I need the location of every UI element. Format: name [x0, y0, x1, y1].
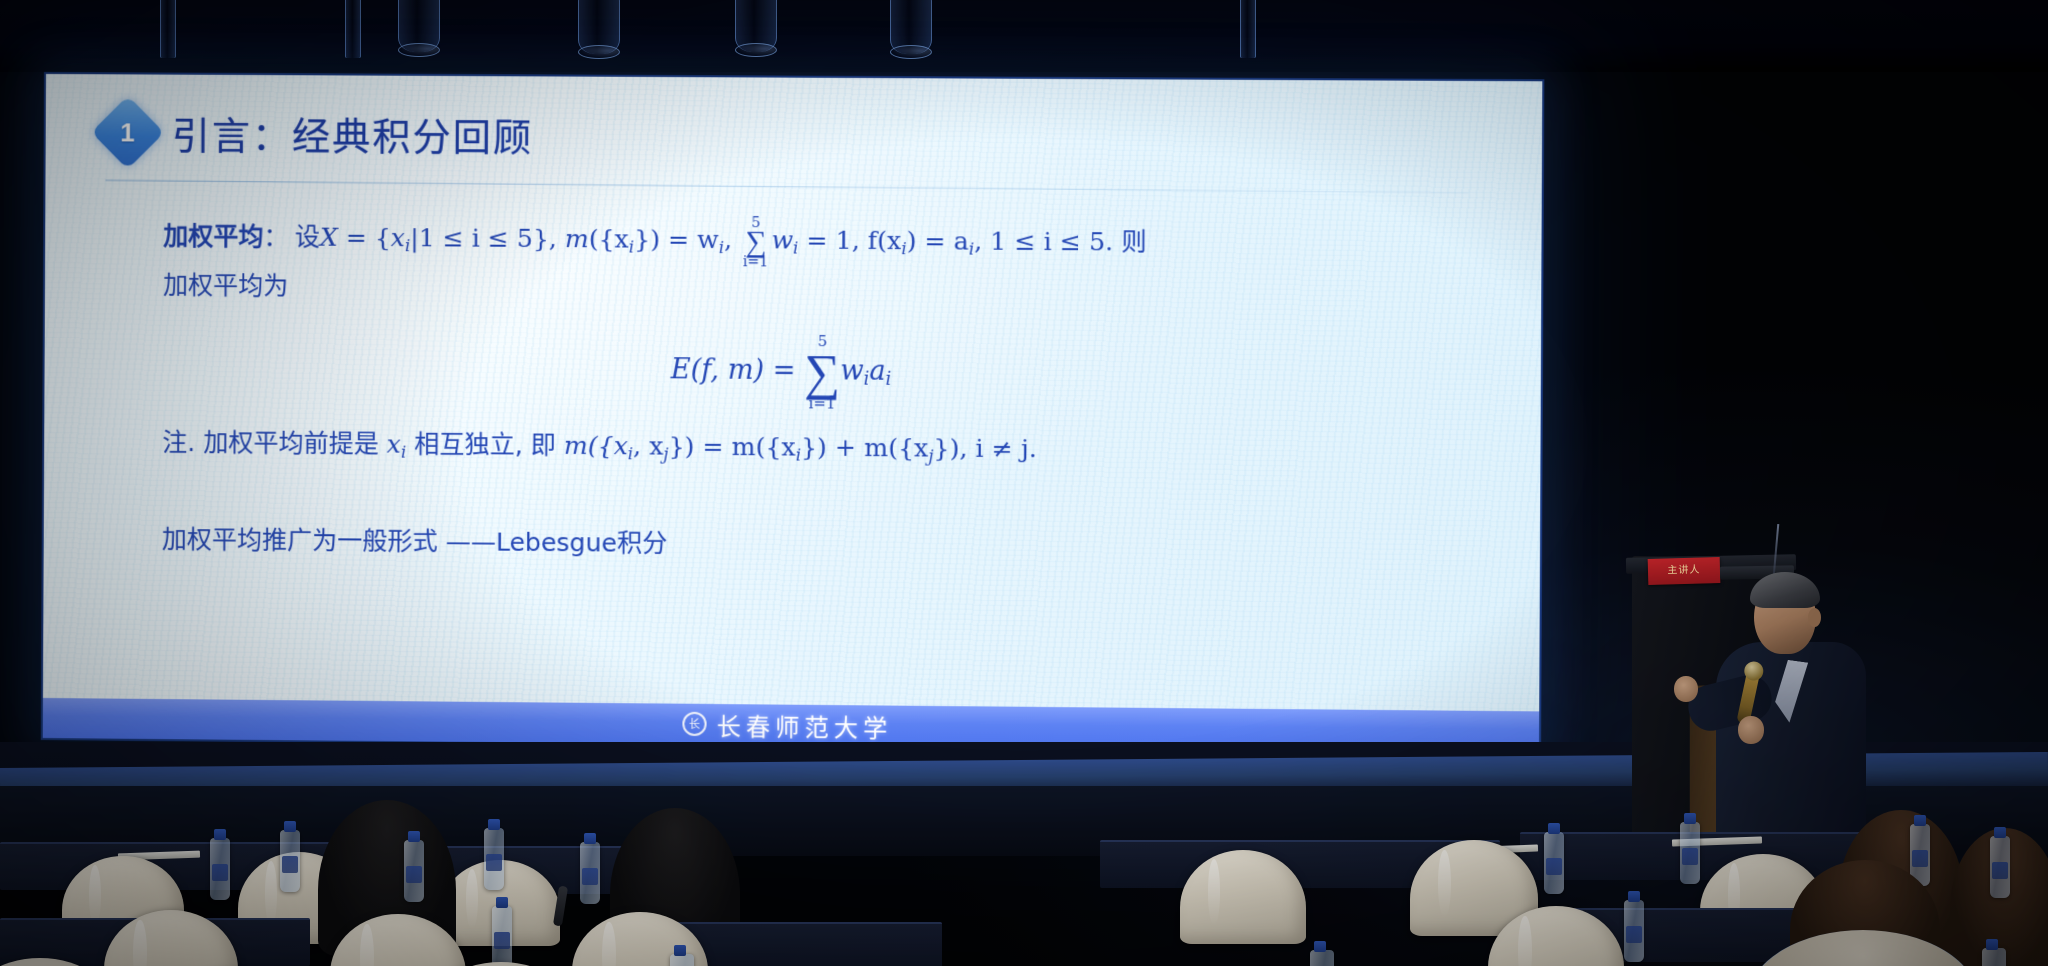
- ceiling-lighting-rig: [0, 0, 2048, 72]
- stage-light-icon: [890, 0, 932, 54]
- slide-title-row: 1 引言：经典积分回顾: [102, 104, 534, 161]
- badge-number: 1: [120, 116, 135, 147]
- weighted-average-is-line: 加权平均为: [163, 267, 1405, 311]
- set-variable-X: X: [320, 223, 338, 252]
- set-equals: = {: [338, 223, 391, 252]
- emblem-label: 长: [689, 716, 700, 732]
- sum-body-w: w: [771, 225, 793, 254]
- note-measure-tail: }), i ≠ j.: [933, 434, 1036, 464]
- inline-summation: 5∑i=1: [743, 216, 769, 269]
- display-summation: 5∑i=1: [804, 334, 840, 412]
- function-equals-a: ) = a: [907, 226, 969, 256]
- range-tail: , 1 ≤ i ≤ 5.: [974, 226, 1121, 256]
- stage-light-icon: [398, 0, 440, 52]
- speaker-right-hand: [1738, 716, 1764, 744]
- auditorium-scene: 1 引言：经典积分回顾 加权平均： 设X = {xi|1 ≤ i ≤ 5}, m…: [0, 0, 2048, 966]
- weighted-average-label: 加权平均: [163, 222, 263, 252]
- measure-arg-open: ({x: [589, 224, 629, 253]
- closing-text: 加权平均推广为一般形式 ——Lebesgue积分: [162, 525, 668, 558]
- measure-m: m: [565, 224, 589, 253]
- speaker-left-hand: [1674, 676, 1698, 702]
- stage-light-icon: [345, 0, 361, 58]
- display-value: a: [869, 355, 885, 386]
- display-sigma-glyph: ∑: [804, 349, 840, 397]
- note-text-mid: 相互独立, 即: [406, 430, 564, 460]
- sum-equals-one: = 1, f(x: [798, 225, 901, 255]
- measure-equals-w: }) = w: [634, 224, 719, 254]
- note-measure-rest2: }) + m({x: [801, 433, 928, 463]
- stage-light-icon: [1240, 0, 1256, 58]
- weighted-average-is-text: 加权平均为: [163, 270, 288, 300]
- page-title: 引言：经典积分回顾: [172, 105, 534, 162]
- set-element-x: x: [391, 223, 405, 252]
- speaker-ear: [1808, 608, 1821, 627]
- water-bottle-icon: [580, 842, 600, 904]
- water-bottle-icon: [280, 830, 300, 892]
- slide-body: 加权平均： 设X = {xi|1 ≤ i ≤ 5}, m({xi}) = wi,…: [162, 213, 1405, 569]
- display-value-subscript: i: [886, 368, 892, 389]
- university-emblem-icon: 长: [682, 712, 706, 736]
- sum-lower-limit: i=1: [743, 255, 768, 269]
- set-condition: |1 ≤ i ≤ 5},: [410, 223, 565, 253]
- projection-screen: 1 引言：经典积分回顾 加权平均： 设X = {xi|1 ≤ i ≤ 5}, m…: [43, 74, 1543, 752]
- note-marker: 注.: [162, 428, 195, 457]
- stage-light-icon: [160, 0, 176, 58]
- closing-line: 加权平均推广为一般形式 ——Lebesgue积分: [162, 522, 1404, 569]
- note-measure-rest: }) = m({x: [668, 432, 795, 462]
- title-divider: [105, 180, 1468, 194]
- note-text-pre: 加权平均前提是: [195, 428, 387, 458]
- note-measure-mid: , x: [633, 431, 663, 460]
- water-bottle-icon: [670, 954, 694, 966]
- note-measure-open: m({x: [564, 431, 628, 461]
- water-bottle-icon: [1624, 900, 1644, 962]
- comma-sep: ,: [724, 225, 740, 254]
- water-bottle-icon: [484, 828, 504, 890]
- university-name: 长春师范大学: [717, 707, 893, 744]
- note-paragraph: 注. 加权平均前提是 xi 相互独立, 即 m({xi, xj}) = m({x…: [162, 425, 1404, 471]
- stage-light-icon: [735, 0, 777, 52]
- water-bottle-icon: [492, 906, 512, 966]
- water-bottle-icon: [1680, 822, 1700, 884]
- display-weight: w: [840, 355, 864, 386]
- audience-area: [0, 790, 2048, 966]
- diamond-number-badge: 1: [91, 95, 165, 169]
- note-variable: x: [387, 430, 401, 459]
- water-bottle-icon: [1544, 832, 1564, 894]
- water-bottle-icon: [1310, 950, 1334, 966]
- colon: ：: [263, 222, 288, 251]
- speaker-hair: [1750, 572, 1820, 608]
- water-bottle-icon: [210, 838, 230, 900]
- water-bottle-icon: [404, 840, 424, 902]
- stage-light-icon: [578, 0, 620, 54]
- display-equation: E(f, m) = 5∑i=1wiai: [162, 330, 1404, 416]
- water-bottle-icon: [1982, 948, 2006, 966]
- set-prefix: 设: [295, 222, 320, 251]
- weighted-average-paragraph: 加权平均： 设X = {xi|1 ≤ i ≤ 5}, m({xi}) = wi,…: [163, 213, 1405, 273]
- water-bottle-icon: [1990, 836, 2010, 898]
- expectation-lhs: E(f, m) =: [671, 354, 805, 386]
- then-word: 则: [1121, 227, 1147, 256]
- display-sum-lower-limit: i=1: [804, 397, 840, 412]
